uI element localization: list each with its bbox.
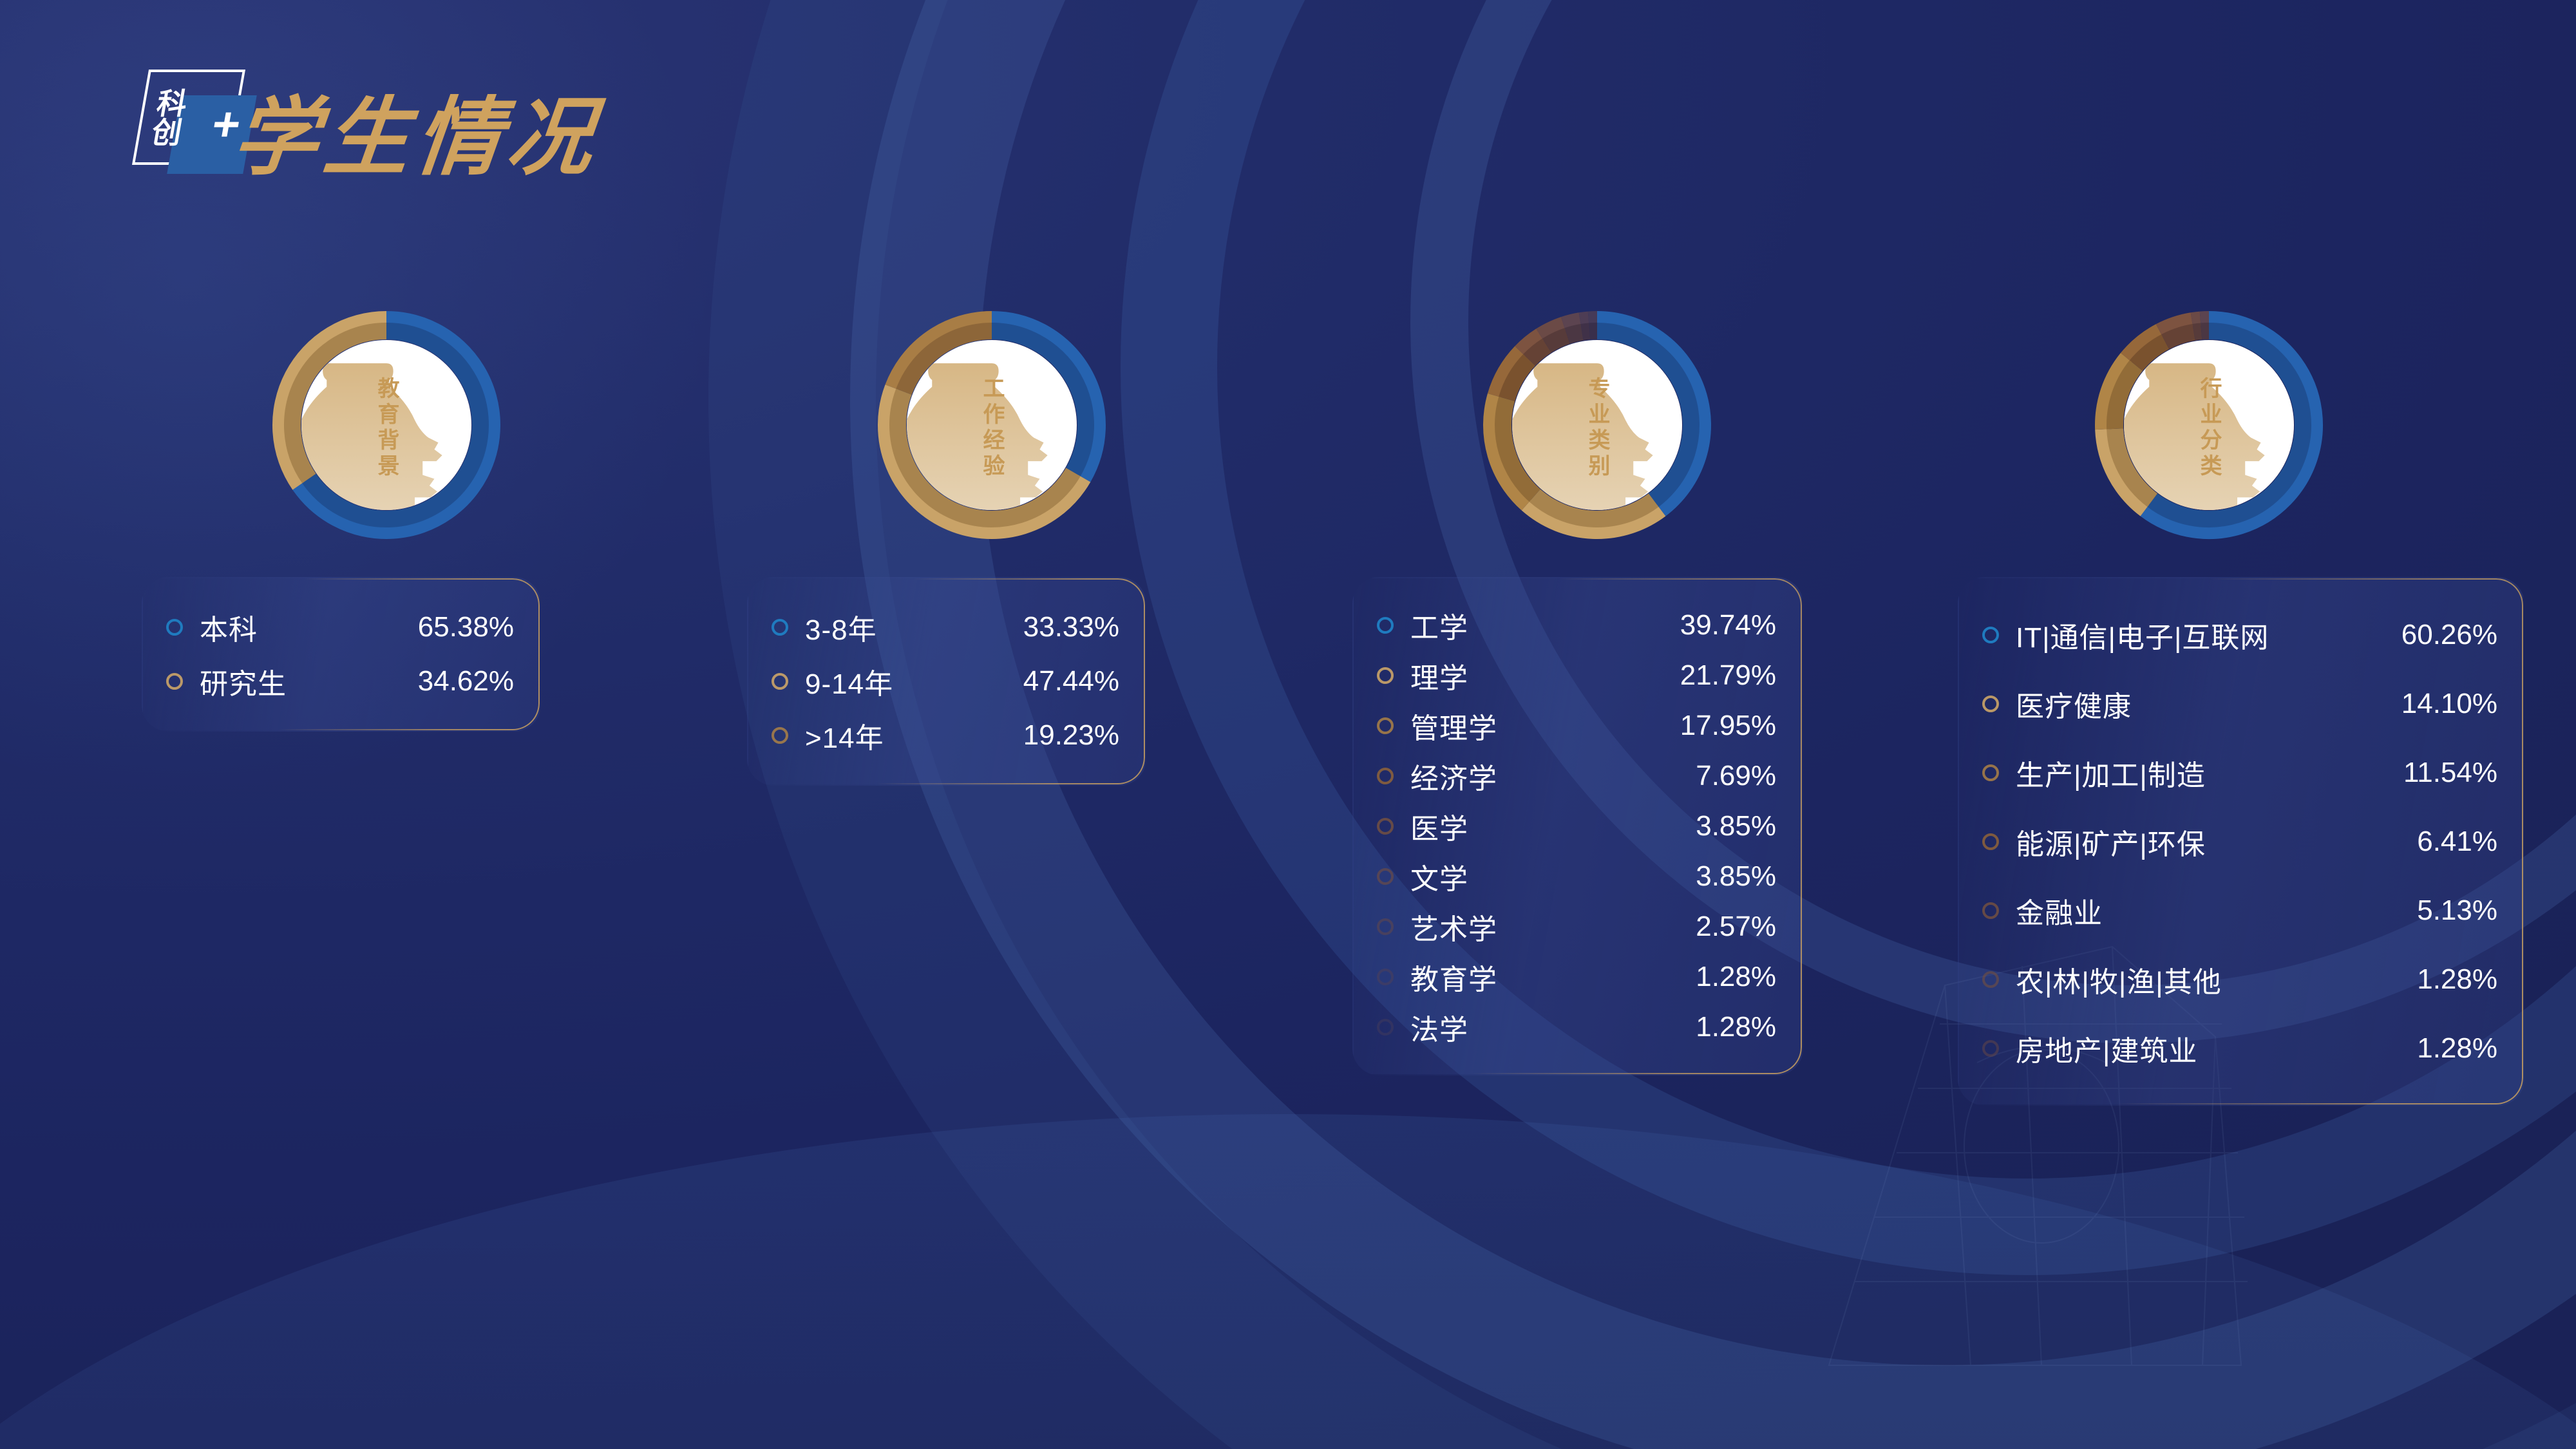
chart-column-experience: 工作经验 3-8年33.33%9-14年47.44%>14年19.23%: [747, 303, 1236, 786]
legend-label: 农|林|牧|渔|其他: [2016, 959, 2349, 1000]
legend-row[interactable]: 法学1.28%: [1377, 1002, 1776, 1052]
legend-list-industry: IT|通信|电子|互联网60.26%医疗健康14.10%生产|加工|制造11.5…: [1982, 600, 2497, 1083]
legend-label: 房地产|建筑业: [2016, 1028, 2349, 1069]
legend-value: 19.23%: [971, 719, 1119, 752]
donut-center-label: 工作经验: [980, 377, 1003, 480]
legend-marker-icon: [772, 619, 788, 636]
legend-label: 金融业: [2016, 890, 2349, 931]
donut-segment: [1589, 318, 1597, 319]
legend-row[interactable]: 医学3.85%: [1377, 801, 1776, 851]
chart-column-education: 教育背景 本科65.38%研究生34.62%: [142, 303, 631, 732]
logo-char-1: 科: [155, 90, 222, 118]
legend-row[interactable]: 文学3.85%: [1377, 851, 1776, 902]
legend-marker-icon: [1377, 868, 1394, 885]
donut-segment: [2201, 318, 2209, 319]
donut-segment: [2192, 319, 2200, 320]
legend-marker-icon: [1377, 969, 1394, 985]
legend-value: 65.38%: [366, 611, 514, 643]
donut-center-major: 专业类别: [1512, 340, 1682, 510]
legend-row[interactable]: 房地产|建筑业1.28%: [1982, 1014, 2497, 1083]
legend-value: 1.28%: [1634, 1011, 1776, 1043]
page-header: 科 创 + 学生情况: [129, 64, 599, 180]
legend-row[interactable]: 生产|加工|制造11.54%: [1982, 738, 2497, 807]
legend-marker-icon: [1377, 1019, 1394, 1036]
legend-marker-icon: [1377, 818, 1394, 835]
legend-list-experience: 3-8年33.33%9-14年47.44%>14年19.23%: [772, 600, 1119, 762]
legend-label: 3-8年: [805, 607, 971, 648]
legend-marker-icon: [1982, 833, 1999, 850]
legend-value: 7.69%: [1634, 760, 1776, 792]
legend-label: 研究生: [200, 661, 366, 702]
legend-marker-icon: [166, 619, 183, 636]
donut-center-label: 专业类别: [1586, 377, 1609, 480]
legend-value: 3.85%: [1634, 810, 1776, 842]
legend-marker-icon: [772, 727, 788, 744]
donut-center-experience: 工作经验: [907, 340, 1077, 510]
page-title: 学生情况: [229, 95, 603, 180]
legend-value: 39.74%: [1634, 609, 1776, 641]
donut-chart-education: 教育背景: [264, 303, 509, 547]
legend-value: 33.33%: [971, 611, 1119, 643]
donut-chart-experience: 工作经验: [869, 303, 1114, 547]
legend-value: 6.41%: [2349, 826, 2497, 858]
legend-row[interactable]: 3-8年33.33%: [772, 600, 1119, 654]
legend-label: 生产|加工|制造: [2016, 752, 2349, 793]
legend-marker-icon: [166, 673, 183, 690]
legend-marker-icon: [1982, 696, 1999, 712]
donut-segment: [1563, 319, 1580, 323]
legend-row[interactable]: 9-14年47.44%: [772, 654, 1119, 708]
legend-panel-industry: IT|通信|电子|互联网60.26%医疗健康14.10%生产|加工|制造11.5…: [1958, 577, 2524, 1106]
legend-marker-icon: [1982, 1040, 1999, 1057]
legend-marker-icon: [1982, 971, 1999, 988]
legend-row[interactable]: 金融业5.13%: [1982, 876, 2497, 945]
legend-row[interactable]: 本科65.38%: [166, 600, 514, 654]
donut-center-label: 行业分类: [2197, 377, 2221, 480]
legend-value: 1.28%: [1634, 961, 1776, 993]
legend-panel-experience: 3-8年33.33%9-14年47.44%>14年19.23%: [747, 577, 1146, 786]
legend-label: 管理学: [1410, 705, 1634, 746]
legend-marker-icon: [1377, 768, 1394, 784]
legend-row[interactable]: 管理学17.95%: [1377, 701, 1776, 751]
legend-label: 法学: [1410, 1007, 1634, 1048]
legend-marker-icon: [772, 673, 788, 690]
legend-row[interactable]: 理学21.79%: [1377, 650, 1776, 701]
legend-label: IT|通信|电子|互联网: [2016, 614, 2349, 656]
legend-panel-major: 工学39.74%理学21.79%管理学17.95%经济学7.69%医学3.85%…: [1352, 577, 1803, 1075]
legend-row[interactable]: >14年19.23%: [772, 708, 1119, 762]
legend-label: 医疗健康: [2016, 683, 2349, 724]
legend-value: 1.28%: [2349, 963, 2497, 996]
legend-marker-icon: [1377, 667, 1394, 684]
donut-center-label: 教育背景: [375, 377, 398, 480]
legend-row[interactable]: 经济学7.69%: [1377, 751, 1776, 801]
legend-value: 14.10%: [2349, 688, 2497, 720]
legend-row[interactable]: IT|通信|电子|互联网60.26%: [1982, 600, 2497, 669]
legend-value: 3.85%: [1634, 860, 1776, 893]
legend-marker-icon: [1982, 902, 1999, 919]
legend-label: 能源|矿产|环保: [2016, 821, 2349, 862]
donut-segment: [1567, 332, 1582, 336]
legend-marker-icon: [1982, 627, 1999, 643]
legend-value: 47.44%: [971, 665, 1119, 697]
chart-column-major: 专业类别 工学39.74%理学21.79%管理学17.95%经济学7.69%医学…: [1352, 303, 1842, 1075]
legend-label: 文学: [1410, 856, 1634, 897]
donut-segment: [2165, 332, 2193, 342]
legend-label: 经济学: [1410, 755, 1634, 797]
donut-center-industry: 行业分类: [2124, 340, 2294, 510]
legend-row[interactable]: 能源|矿产|环保6.41%: [1982, 807, 2497, 876]
slide-canvas: 科 创 + 学生情况: [0, 0, 2576, 1449]
legend-panel-education: 本科65.38%研究生34.62%: [142, 577, 541, 732]
legend-value: 21.79%: [1634, 659, 1776, 692]
legend-label: 医学: [1410, 806, 1634, 847]
legend-row[interactable]: 教育学1.28%: [1377, 952, 1776, 1002]
legend-label: >14年: [805, 715, 971, 756]
legend-value: 5.13%: [2349, 895, 2497, 927]
legend-row[interactable]: 农|林|牧|渔|其他1.28%: [1982, 945, 2497, 1014]
legend-list-major: 工学39.74%理学21.79%管理学17.95%经济学7.69%医学3.85%…: [1377, 600, 1776, 1052]
legend-marker-icon: [1377, 918, 1394, 935]
legend-label: 本科: [200, 607, 366, 648]
legend-marker-icon: [1982, 764, 1999, 781]
legend-value: 11.54%: [2349, 757, 2497, 789]
legend-label: 艺术学: [1410, 906, 1634, 947]
donut-segment: [2194, 331, 2202, 332]
legend-list-education: 本科65.38%研究生34.62%: [166, 600, 514, 708]
donut-segment: [1580, 319, 1588, 320]
donut-segment: [1547, 336, 1567, 346]
legend-value: 34.62%: [366, 665, 514, 697]
logo-char-2: 创: [149, 118, 216, 147]
legend-row[interactable]: 研究生34.62%: [166, 654, 514, 708]
donut-chart-industry: 行业分类: [2087, 303, 2331, 547]
legend-value: 2.57%: [1634, 911, 1776, 943]
legend-row[interactable]: 医疗健康14.10%: [1982, 669, 2497, 738]
legend-label: 工学: [1410, 605, 1634, 646]
legend-label: 教育学: [1410, 956, 1634, 998]
legend-label: 理学: [1410, 655, 1634, 696]
legend-row[interactable]: 艺术学2.57%: [1377, 902, 1776, 952]
legend-row[interactable]: 工学39.74%: [1377, 600, 1776, 650]
legend-value: 17.95%: [1634, 710, 1776, 742]
legend-value: 60.26%: [2349, 619, 2497, 651]
chart-column-industry: 行业分类 IT|通信|电子|互联网60.26%医疗健康14.10%生产|加工|制…: [1958, 303, 2537, 1106]
legend-marker-icon: [1377, 617, 1394, 634]
legend-marker-icon: [1377, 717, 1394, 734]
legend-label: 9-14年: [805, 661, 971, 702]
legend-value: 1.28%: [2349, 1032, 2497, 1065]
donut-center-education: 教育背景: [301, 340, 471, 510]
donut-chart-major: 专业类别: [1475, 303, 1719, 547]
donut-segment: [1582, 331, 1590, 332]
